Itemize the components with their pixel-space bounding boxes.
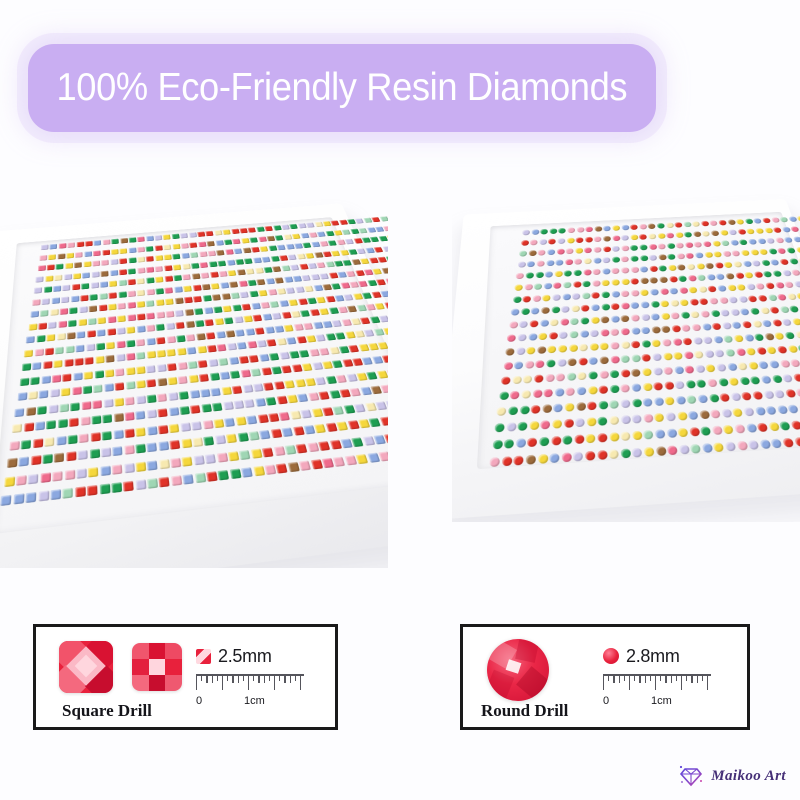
- drill-bead: [87, 485, 98, 496]
- drill-bead: [553, 403, 563, 412]
- drill-bead: [325, 375, 336, 383]
- drill-bead: [658, 254, 667, 260]
- drill-bead: [620, 415, 630, 424]
- drill-bead: [158, 441, 169, 451]
- drill-bead: [796, 388, 800, 397]
- drill-bead: [678, 275, 687, 282]
- drill-bead: [782, 319, 793, 326]
- ruler-tick: [227, 674, 228, 681]
- drill-bead: [592, 280, 601, 287]
- drill-bead: [577, 387, 587, 396]
- drill-bead: [745, 219, 754, 225]
- drill-bead: [209, 261, 218, 267]
- drill-bead: [119, 269, 127, 275]
- drill-bead: [273, 446, 285, 456]
- drill-bead: [189, 242, 197, 248]
- drill-bead: [381, 267, 388, 273]
- drill-bead: [792, 318, 800, 325]
- drill-bead: [590, 330, 599, 338]
- drill-bead: [204, 436, 215, 446]
- drill-bead: [251, 448, 263, 458]
- drill-bead: [136, 380, 146, 389]
- ruler-tick: [284, 674, 285, 683]
- drill-bead: [169, 423, 180, 432]
- drill-bead: [743, 407, 754, 416]
- drill-bead: [255, 268, 264, 274]
- drill-bead: [289, 350, 300, 358]
- drill-bead: [537, 260, 545, 266]
- drill-bead: [531, 405, 540, 414]
- drill-bead: [110, 259, 118, 265]
- drill-bead: [202, 419, 213, 428]
- drill-bead: [128, 247, 136, 253]
- drill-bead: [761, 260, 771, 266]
- drill-bead: [283, 276, 293, 282]
- drill-bead: [727, 219, 736, 225]
- drill-bead: [753, 218, 762, 224]
- drill-bead: [84, 251, 92, 257]
- drill-bead: [654, 397, 664, 406]
- drill-bead: [558, 228, 566, 234]
- drill-bead: [266, 397, 277, 406]
- drill-bead: [725, 349, 735, 357]
- drill-bead: [109, 280, 117, 286]
- drill-bead: [724, 335, 734, 343]
- drill-bead: [246, 268, 255, 274]
- drill-bead: [77, 331, 86, 338]
- drill-bead: [748, 239, 757, 245]
- drill-bead: [612, 257, 620, 263]
- drill-bead: [547, 249, 555, 255]
- drill-bead: [296, 336, 306, 344]
- drill-bead: [194, 308, 203, 315]
- drill-bead: [771, 375, 782, 383]
- drill-bead: [159, 458, 170, 468]
- drill-bead: [574, 259, 582, 265]
- drill-bead: [44, 437, 54, 447]
- drill-bead: [52, 470, 62, 481]
- drill-bead: [311, 408, 323, 417]
- drill-bead: [657, 233, 666, 239]
- drill-bead: [177, 361, 187, 369]
- drill-bead: [63, 488, 73, 499]
- square-drill-tray-photo: [0, 168, 388, 568]
- drill-bead: [315, 424, 327, 434]
- drill-bead: [308, 232, 317, 238]
- drill-bead: [569, 344, 578, 352]
- drill-bead: [755, 407, 766, 416]
- drill-bead: [75, 358, 84, 366]
- drill-bead: [693, 231, 702, 237]
- drill-bead: [147, 442, 158, 452]
- drill-bead: [667, 445, 678, 455]
- drill-bead: [75, 252, 83, 258]
- drill-bead: [107, 328, 116, 335]
- drill-bead: [146, 288, 155, 295]
- drill-bead: [172, 234, 180, 240]
- drill-bead: [609, 432, 619, 442]
- drill-bead: [189, 232, 197, 238]
- drill-bead: [571, 305, 580, 312]
- drill-bead: [602, 268, 611, 274]
- drill-bead: [157, 364, 167, 372]
- drill-bead: [128, 279, 136, 285]
- drill-bead: [549, 228, 557, 234]
- drill-bead: [374, 246, 384, 252]
- drill-bead: [319, 347, 330, 355]
- drill-bead: [344, 455, 357, 465]
- drill-bead: [736, 348, 747, 356]
- drill-bead: [211, 283, 220, 290]
- drill-bead: [147, 409, 157, 418]
- drill-bead: [260, 301, 270, 308]
- drill-bead: [782, 270, 792, 276]
- drill-bead: [345, 239, 354, 245]
- drill-bead: [655, 446, 666, 456]
- drill-bead: [654, 413, 665, 422]
- drill-bead: [727, 285, 737, 292]
- drill-bead: [777, 248, 787, 254]
- drill-bead: [303, 322, 313, 329]
- ruler-tick: [206, 674, 207, 683]
- drill-bead: [716, 273, 725, 280]
- drill-bead: [655, 429, 666, 439]
- drill-bead: [379, 315, 388, 322]
- drill-bead: [299, 460, 311, 470]
- drill-bead: [523, 375, 532, 383]
- drill-bead: [88, 466, 98, 477]
- drill-bead: [276, 338, 286, 346]
- drill-bead: [741, 250, 750, 256]
- ruler-tick: [629, 674, 630, 690]
- drill-bead: [695, 252, 704, 258]
- drill-bead: [302, 363, 313, 371]
- drill-bead: [785, 389, 796, 398]
- drill-bead: [789, 305, 799, 312]
- drill-bead: [158, 408, 168, 417]
- drill-bead: [785, 332, 796, 340]
- drill-bead: [283, 234, 292, 240]
- drill-bead: [540, 320, 549, 327]
- drill-bead: [621, 267, 630, 273]
- drill-bead: [306, 222, 315, 227]
- drill-bead: [164, 254, 172, 260]
- drill-bead: [602, 280, 611, 287]
- drill-bead: [126, 367, 135, 375]
- drill-bead: [228, 451, 239, 461]
- drill-bead: [514, 284, 522, 291]
- drill-bead: [790, 359, 800, 367]
- drill-bead: [108, 304, 117, 311]
- drill-bead: [126, 353, 135, 361]
- drill-bead: [379, 417, 388, 426]
- ruler-start-label: 0: [196, 695, 202, 707]
- drill-bead: [712, 241, 721, 247]
- drill-bead: [502, 456, 512, 466]
- drill-bead: [597, 450, 608, 460]
- drill-bead: [501, 376, 510, 384]
- drill-bead: [36, 335, 45, 343]
- drill-bead: [350, 388, 362, 397]
- drill-bead: [26, 406, 36, 415]
- drill-bead: [259, 353, 269, 361]
- drill-bead: [234, 248, 243, 254]
- drill-bead: [652, 353, 662, 361]
- drill-bead: [700, 426, 711, 435]
- drill-bead: [103, 398, 113, 407]
- drill-bead: [308, 392, 319, 401]
- drill-bead: [707, 274, 716, 281]
- drill-bead: [570, 318, 579, 325]
- drill-bead: [342, 359, 353, 367]
- drill-bead: [612, 235, 620, 241]
- drill-bead: [689, 427, 700, 436]
- drill-bead: [705, 263, 714, 269]
- drill-bead: [71, 295, 79, 302]
- drill-bead: [128, 257, 136, 263]
- drill-bead: [61, 296, 69, 303]
- drill-bead: [187, 347, 197, 355]
- drill-bead: [84, 371, 93, 379]
- drill-bead: [312, 362, 323, 370]
- drill-bead: [519, 321, 528, 328]
- drill-bead: [611, 291, 620, 298]
- drill-bead: [238, 280, 247, 286]
- drill-bead: [316, 334, 327, 342]
- drill-bead: [630, 290, 639, 297]
- drill-bead: [630, 234, 638, 240]
- drill-bead: [156, 311, 165, 318]
- drill-bead: [229, 281, 238, 287]
- drill-bead: [30, 311, 39, 318]
- drill-bead: [535, 272, 543, 279]
- ruler-tick: [253, 674, 254, 681]
- drill-bead: [88, 317, 97, 324]
- drill-bead: [34, 348, 43, 356]
- drill-bead: [195, 320, 204, 327]
- drill-bead: [737, 362, 748, 370]
- drill-bead: [639, 255, 648, 261]
- drill-bead: [13, 493, 24, 504]
- drill-bead: [586, 417, 596, 426]
- drill-bead: [631, 354, 641, 362]
- drill-bead: [696, 263, 705, 269]
- drill-bead: [300, 310, 310, 317]
- drill-bead: [620, 384, 630, 393]
- drill-bead: [611, 316, 620, 323]
- drill-bead: [170, 440, 181, 450]
- drill-bead: [701, 221, 710, 227]
- ruler-tick: [681, 674, 682, 690]
- drill-bead: [304, 425, 316, 435]
- drill-bead: [744, 272, 754, 279]
- drill-bead: [289, 224, 298, 229]
- drill-bead: [729, 229, 738, 235]
- drill-bead: [110, 269, 118, 275]
- drill-bead: [185, 321, 194, 328]
- drill-bead: [766, 406, 778, 415]
- drill-bead: [774, 332, 785, 340]
- drill-bead: [292, 275, 302, 281]
- drill-bead: [124, 428, 134, 438]
- drill-bead: [698, 394, 709, 403]
- drill-bead: [558, 345, 567, 353]
- drill-bead: [549, 332, 558, 340]
- drill-bead: [176, 322, 185, 329]
- drill-bead: [193, 455, 204, 465]
- drill-bead: [226, 434, 237, 444]
- drill-bead: [336, 374, 347, 382]
- drill-bead: [732, 250, 741, 256]
- drill-bead: [83, 385, 92, 394]
- drill-bead: [164, 276, 173, 282]
- drill-bead: [503, 362, 512, 370]
- drill-bead: [117, 315, 126, 322]
- drill-bead: [178, 376, 188, 384]
- drill-bead: [276, 463, 288, 473]
- drill-bead: [59, 243, 67, 249]
- drill-bead: [200, 388, 210, 397]
- drill-bead: [179, 390, 189, 399]
- drill-bead: [680, 299, 689, 306]
- drill-bead: [581, 305, 590, 312]
- drill-bead: [157, 393, 167, 402]
- drill-bead: [279, 255, 288, 261]
- drill-bead: [347, 305, 357, 312]
- drill-bead: [286, 287, 296, 294]
- drill-bead: [631, 399, 641, 408]
- ruler-tick: [248, 674, 249, 690]
- drill-bead: [272, 266, 281, 272]
- drill-bead: [212, 294, 221, 301]
- drill-bead: [791, 226, 800, 232]
- drill-bead: [270, 301, 280, 308]
- drill-bead: [156, 324, 165, 331]
- drill-bead: [137, 301, 146, 308]
- ruler-tick: [243, 674, 244, 681]
- drill-bead: [632, 448, 643, 458]
- ruler-tick: [655, 674, 656, 690]
- drill-bead: [42, 454, 52, 464]
- drill-bead: [564, 270, 572, 276]
- drill-bead: [277, 245, 286, 251]
- square-drill-size: 2.5mm: [218, 646, 272, 667]
- drill-bead: [729, 377, 740, 385]
- drill-bead: [715, 349, 725, 357]
- drill-bead: [712, 323, 722, 330]
- drill-bead: [127, 326, 136, 333]
- drill-bead: [601, 291, 610, 298]
- drill-bead: [202, 283, 211, 290]
- drill-bead: [719, 297, 729, 304]
- drill-bead: [190, 405, 201, 414]
- drill-bead: [376, 279, 386, 285]
- drill-bead: [332, 319, 343, 326]
- drill-bead: [788, 216, 797, 222]
- drill-bead: [53, 285, 61, 292]
- drill-bead: [541, 307, 549, 314]
- ruler-tick: [290, 674, 291, 683]
- drill-bead: [204, 307, 213, 314]
- drill-bead: [779, 360, 790, 368]
- drill-bead: [520, 406, 529, 415]
- drill-bead: [146, 312, 155, 319]
- drill-bead: [704, 350, 714, 358]
- drill-bead: [73, 273, 81, 279]
- drill-bead: [181, 243, 189, 249]
- drill-bead: [43, 361, 52, 369]
- drill-bead: [641, 327, 650, 334]
- drill-bead: [285, 244, 294, 250]
- drill-bead: [346, 270, 356, 276]
- drill-bead: [561, 452, 571, 462]
- drill-bead: [59, 403, 68, 412]
- round-drill-size: 2.8mm: [626, 646, 680, 667]
- ruler-tick: [603, 674, 604, 690]
- drill-bead: [538, 454, 548, 464]
- drill-bead: [713, 442, 725, 452]
- drill-bead: [224, 317, 234, 324]
- drill-bead: [228, 270, 237, 276]
- page-title: 100% Eco-Friendly Resin Diamonds: [57, 66, 628, 110]
- drill-bead: [301, 274, 311, 280]
- drill-bead: [78, 450, 88, 460]
- drill-bead: [552, 419, 562, 428]
- drill-bead: [230, 370, 240, 378]
- drill-bead: [516, 273, 524, 280]
- drill-bead: [300, 409, 312, 418]
- drill-bead: [554, 271, 562, 277]
- drill-bead: [136, 427, 146, 437]
- drill-bead: [184, 297, 193, 304]
- drill-bead: [725, 273, 734, 280]
- drill-bead: [275, 235, 284, 241]
- drill-bead: [688, 411, 699, 420]
- drill-bead: [723, 425, 734, 434]
- drill-bead: [630, 245, 638, 251]
- drill-bead: [124, 462, 135, 472]
- ruler-tick: [707, 674, 708, 690]
- drill-bead: [550, 453, 560, 463]
- drill-bead: [253, 466, 265, 477]
- drill-bead: [736, 219, 745, 225]
- drill-bead: [667, 254, 676, 260]
- drill-bead: [64, 359, 73, 367]
- drill-bead: [48, 254, 56, 260]
- drill-bead: [7, 458, 18, 468]
- drill-bead: [588, 371, 598, 379]
- drill-bead: [125, 381, 135, 390]
- drill-bead: [287, 394, 298, 403]
- drill-bead: [537, 346, 546, 354]
- drill-bead: [290, 410, 301, 419]
- drill-bead: [748, 362, 759, 370]
- drill-bead: [137, 278, 145, 284]
- drill-bead: [127, 290, 136, 297]
- drill-bead: [303, 242, 312, 248]
- drill-bead: [648, 233, 656, 239]
- drill-bead: [116, 340, 125, 348]
- drill-bead: [683, 351, 693, 359]
- round-drill-tray-photo: [452, 172, 800, 522]
- round-drill-ruler: [603, 674, 711, 694]
- drill-bead: [215, 240, 224, 246]
- drill-bead: [102, 249, 110, 255]
- drill-bead: [653, 367, 663, 375]
- drill-bead: [526, 272, 534, 279]
- drill-bead: [782, 227, 791, 233]
- drill-bead: [585, 226, 593, 232]
